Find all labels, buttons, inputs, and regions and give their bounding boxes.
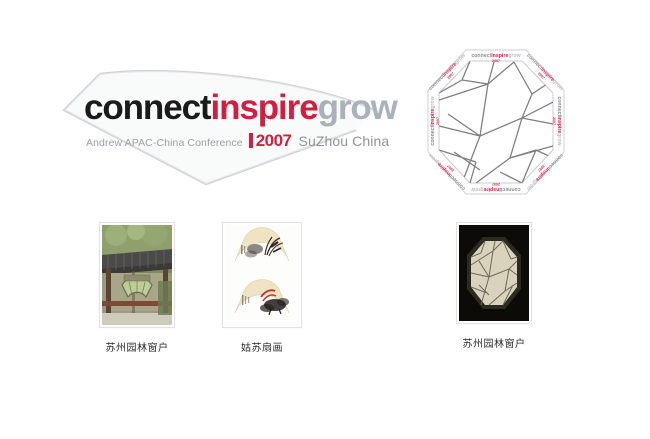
octagonal-lattice-window-photo [459,225,529,321]
tagline-year: 2007 [256,132,292,149]
reference-photo-row: 苏州园林窗户 [0,222,650,362]
photo-cell-garden-window: 苏州园林窗户 [92,222,182,354]
octagon-face-year-left: 2007 [436,117,440,125]
photo-cell-fan-painting: 姑苏扇画 [214,222,310,354]
octagon-face-year-right: 2007 [552,117,556,125]
octagon-inner-border [439,61,553,183]
photo-frame [222,222,302,328]
tagline-red-bar [249,133,253,148]
photo-caption: 苏州园林窗户 [92,339,182,354]
fan-swoosh-graphic [56,66,386,188]
photo-frame [99,222,175,328]
wordmark-text: connectinspiregrow [84,90,397,125]
octagon-face-year-bottom: 2007 [492,182,500,186]
photo-frame [456,222,532,324]
wordmark-connect: connect [84,88,211,127]
tagline-event-name: Andrew APAC-China Conference [86,138,243,149]
gusu-fan-painting-photo [225,225,299,325]
octagon-emblem: connectinspiregrow 2007 connectinspiregr… [418,40,574,212]
photo-caption: 苏州园林窗户 [448,335,540,350]
photo-cell-octagonal-window: 苏州园林窗户 [448,222,540,350]
tagline-city: SuZhou China [299,134,390,148]
wordmark-grow: grow [318,88,397,127]
wordmark-inspire: inspire [211,88,318,127]
photo-caption: 姑苏扇画 [214,339,310,354]
logo-lockup: connectinspiregrow Andrew APAC-China Con… [56,66,386,188]
octagon-face-year-top: 2007 [492,59,500,63]
conference-tagline: Andrew APAC-China Conference 2007 SuZhou… [86,131,389,149]
suzhou-garden-window-photo [102,225,172,325]
